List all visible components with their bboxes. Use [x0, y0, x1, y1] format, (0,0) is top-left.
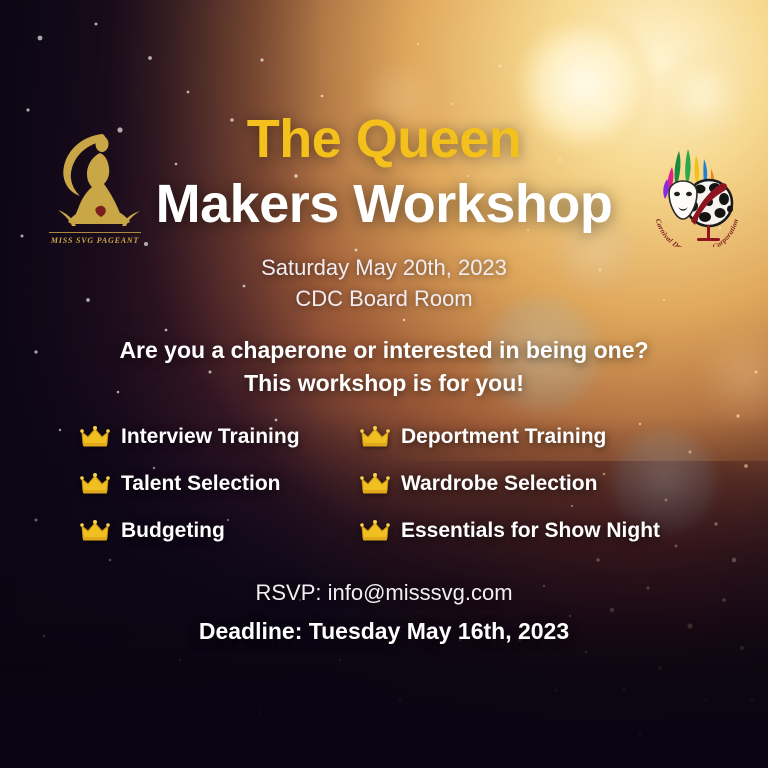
- topic-label: Interview Training: [121, 425, 300, 449]
- topic-item: Talent Selection: [80, 472, 360, 496]
- rsvp-line[interactable]: RSVP: info@misssvg.com: [0, 576, 768, 609]
- topic-row: Budgeting Essentials for Show Night: [80, 519, 688, 543]
- event-flyer: MISS SVG PAGEANT: [0, 0, 768, 768]
- crown-icon: [80, 473, 110, 495]
- crown-icon: [80, 426, 110, 448]
- topic-item: Wardrobe Selection: [360, 472, 688, 496]
- event-venue: CDC Board Room: [0, 283, 768, 314]
- topic-label: Budgeting: [121, 519, 225, 543]
- topic-item: Budgeting: [80, 519, 360, 543]
- crown-icon: [360, 520, 390, 542]
- miss-svg-pageant-caption: MISS SVG PAGEANT: [40, 236, 150, 245]
- topic-item: Interview Training: [80, 425, 360, 449]
- event-date: Saturday May 20th, 2023: [0, 252, 768, 283]
- headline-line-1: The Queen: [0, 112, 768, 166]
- question-line-2: This workshop is for you!: [0, 367, 768, 400]
- topic-item: Deportment Training: [360, 425, 688, 449]
- crown-icon: [360, 473, 390, 495]
- audience-question: Are you a chaperone or interested in bei…: [0, 334, 768, 401]
- topic-row: Talent Selection Wardrobe Selection: [80, 472, 688, 496]
- topics-list: Interview Training Deportment Training: [80, 425, 688, 566]
- question-line-1: Are you a chaperone or interested in bei…: [0, 334, 768, 367]
- topic-label: Essentials for Show Night: [401, 519, 660, 543]
- topic-row: Interview Training Deportment Training: [80, 425, 688, 449]
- flyer-footer: RSVP: info@misssvg.com Deadline: Tuesday…: [0, 576, 768, 645]
- flyer-headline: The Queen Makers Workshop: [0, 112, 768, 233]
- deadline-line: Deadline: Tuesday May 16th, 2023: [0, 618, 768, 645]
- headline-line-2: Makers Workshop: [0, 176, 768, 233]
- topic-label: Deportment Training: [401, 425, 606, 449]
- topic-item: Essentials for Show Night: [360, 519, 688, 543]
- topic-label: Talent Selection: [121, 472, 280, 496]
- crown-icon: [80, 520, 110, 542]
- crown-icon: [360, 426, 390, 448]
- topic-label: Wardrobe Selection: [401, 472, 597, 496]
- event-details: Saturday May 20th, 2023 CDC Board Room: [0, 252, 768, 314]
